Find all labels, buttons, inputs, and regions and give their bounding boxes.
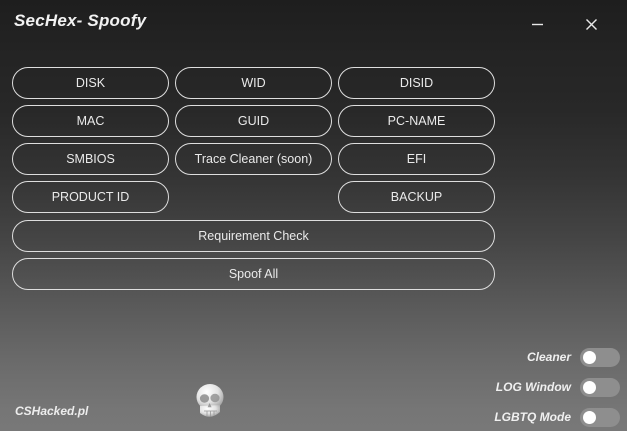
- skull-icon: [192, 381, 228, 423]
- trace-cleaner-button[interactable]: Trace Cleaner (soon): [175, 143, 332, 175]
- requirement-check-button[interactable]: Requirement Check: [12, 220, 495, 252]
- button-row: Spoof All: [0, 258, 627, 290]
- toggle-knob: [583, 381, 596, 394]
- cleaner-toggle-row: Cleaner: [455, 345, 620, 369]
- pc-name-button[interactable]: PC-NAME: [338, 105, 495, 137]
- guid-button[interactable]: GUID: [175, 105, 332, 137]
- log-window-toggle-label: LOG Window: [496, 380, 571, 394]
- button-row: Requirement Check: [0, 220, 627, 252]
- lgbtq-mode-toggle-row: LGBTQ Mode: [455, 405, 620, 429]
- smbios-button[interactable]: SMBIOS: [12, 143, 169, 175]
- wid-button[interactable]: WID: [175, 67, 332, 99]
- title-bar: SecHex- Spoofy: [0, 0, 627, 48]
- minimize-button[interactable]: [516, 8, 558, 40]
- efi-button[interactable]: EFI: [338, 143, 495, 175]
- log-window-toggle-row: LOG Window: [455, 375, 620, 399]
- lgbtq-mode-toggle-label: LGBTQ Mode: [494, 410, 571, 424]
- button-row: SMBIOS Trace Cleaner (soon) EFI: [0, 143, 627, 175]
- disid-button[interactable]: DISID: [338, 67, 495, 99]
- disk-button[interactable]: DISK: [12, 67, 169, 99]
- spoof-all-button[interactable]: Spoof All: [12, 258, 495, 290]
- lgbtq-mode-toggle[interactable]: [580, 408, 620, 427]
- close-icon: [585, 18, 598, 31]
- cleaner-toggle[interactable]: [580, 348, 620, 367]
- button-row: MAC GUID PC-NAME: [0, 105, 627, 137]
- close-button[interactable]: [570, 8, 612, 40]
- watermark-text: CSHacked.pl: [15, 404, 88, 418]
- toggle-knob: [583, 351, 596, 364]
- button-row: DISK WID DISID: [0, 67, 627, 99]
- toggle-knob: [583, 411, 596, 424]
- cleaner-toggle-label: Cleaner: [527, 350, 571, 364]
- minimize-icon: [531, 18, 544, 31]
- button-row: PRODUCT ID BACKUP: [0, 181, 627, 213]
- log-window-toggle[interactable]: [580, 378, 620, 397]
- application-window: SecHex- Spoofy DISK WID DISID MAC GUID P…: [0, 0, 627, 431]
- backup-button[interactable]: BACKUP: [338, 181, 495, 213]
- product-id-button[interactable]: PRODUCT ID: [12, 181, 169, 213]
- window-title: SecHex- Spoofy: [14, 11, 146, 31]
- mac-button[interactable]: MAC: [12, 105, 169, 137]
